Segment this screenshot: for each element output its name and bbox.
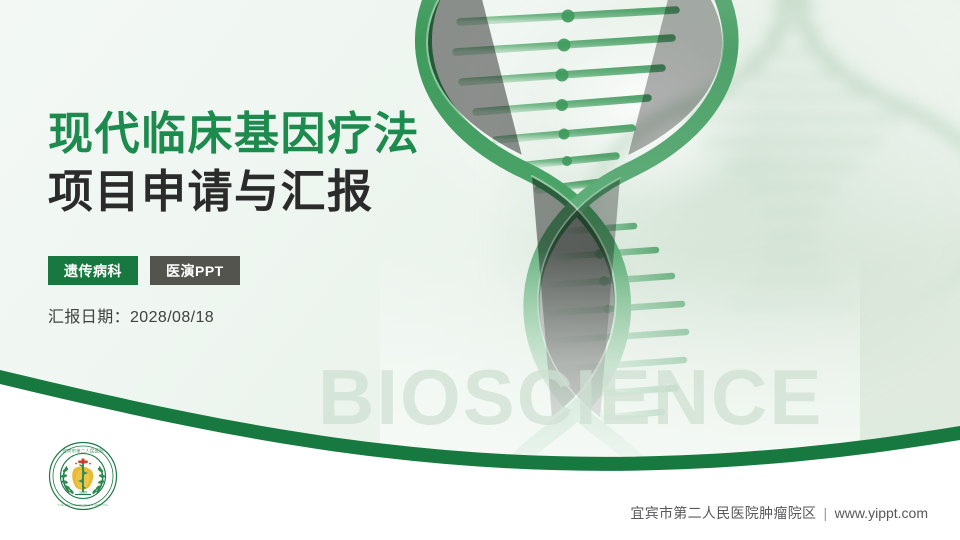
svg-text:1889: 1889 [79, 491, 87, 495]
footer-organization: 宜宾市第二人民医院肿瘤院区 [630, 505, 816, 521]
page-title-line-2: 项目申请与汇报 [48, 163, 420, 221]
svg-text:THE SECOND PEOPLE'S HOSPITAL: THE SECOND PEOPLE'S HOSPITAL [58, 503, 109, 507]
footer-separator: | [821, 505, 831, 521]
report-date-label: 汇报日期：2028/08/18 [48, 303, 214, 327]
badge-group: 遗传病科 医演PPT [48, 256, 240, 285]
footer-text: 宜宾市第二人民医院肿瘤院区 | www.yippt.com [630, 503, 928, 523]
page-title-line-1: 现代临床基因疗法 [48, 105, 420, 163]
hospital-emblem-logo-icon: 1889 宜宾市第二人民医院 THE SECOND PEOPLE'S HOSPI… [48, 441, 118, 511]
title-block: 现代临床基因疗法 项目申请与汇报 [48, 105, 420, 220]
status-badge-template: 医演PPT [150, 256, 240, 285]
status-badge-department: 遗传病科 [48, 256, 138, 285]
svg-text:宜宾市第二人民医院: 宜宾市第二人民医院 [62, 448, 104, 455]
presentation-slide: BIOSCIENCE 现代临床基因疗法 项目申请与汇报 遗传病科 医演PPT 汇… [0, 0, 960, 540]
footer-website: www.yippt.com [835, 505, 928, 521]
